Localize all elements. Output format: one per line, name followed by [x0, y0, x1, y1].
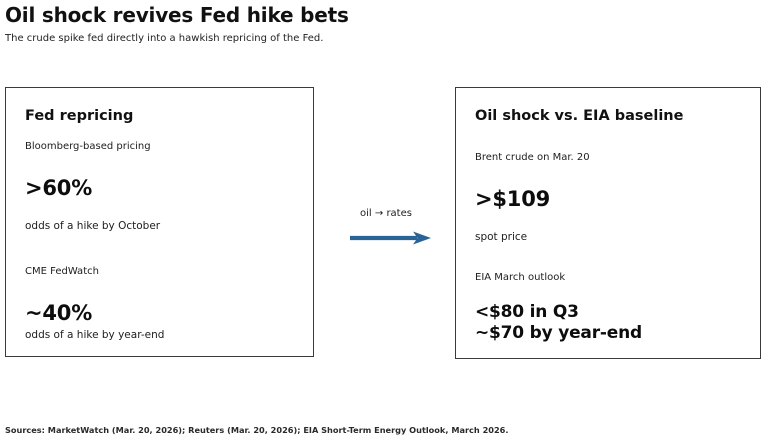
fed-hike-odds-october-value: >60% — [25, 176, 92, 200]
oil-spot-price-caption: spot price — [475, 231, 527, 243]
page-title: Oil shock revives Fed hike bets — [5, 3, 349, 27]
oil-eia-outlook-label: EIA March outlook — [475, 272, 565, 283]
fed-hike-odds-october-caption: odds of a hike by October — [25, 220, 160, 232]
oil-spot-price-value: >$109 — [475, 187, 550, 211]
fed-hike-odds-yearend-value: ~40% — [25, 301, 92, 325]
fed-source-cme-fedwatch-label: CME FedWatch — [25, 266, 99, 277]
oil-eia-forecast-q3: <$80 in Q3 — [475, 302, 642, 323]
fed-source-bloomberg-label: Bloomberg-based pricing — [25, 141, 151, 152]
oil-eia-forecast-values: <$80 in Q3 ~$70 by year-end — [475, 302, 642, 344]
arrow-right-icon — [349, 230, 434, 246]
fed-repricing-heading: Fed repricing — [25, 108, 133, 124]
oil-shock-panel: Oil shock vs. EIA baseline Brent crude o… — [455, 87, 761, 359]
connector-label: oil → rates — [330, 208, 442, 219]
oil-brent-date-label: Brent crude on Mar. 20 — [475, 152, 590, 163]
sources-note: Sources: MarketWatch (Mar. 20, 2026); Re… — [5, 425, 508, 435]
connector-group: oil → rates — [330, 200, 452, 255]
oil-eia-forecast-yearend: ~$70 by year-end — [475, 323, 642, 344]
fed-repricing-panel: Fed repricing Bloomberg-based pricing >6… — [5, 87, 314, 357]
fed-hike-odds-yearend-caption: odds of a hike by year-end — [25, 329, 164, 341]
oil-shock-heading: Oil shock vs. EIA baseline — [475, 108, 683, 124]
page-subtitle: The crude spike fed directly into a hawk… — [5, 33, 323, 44]
